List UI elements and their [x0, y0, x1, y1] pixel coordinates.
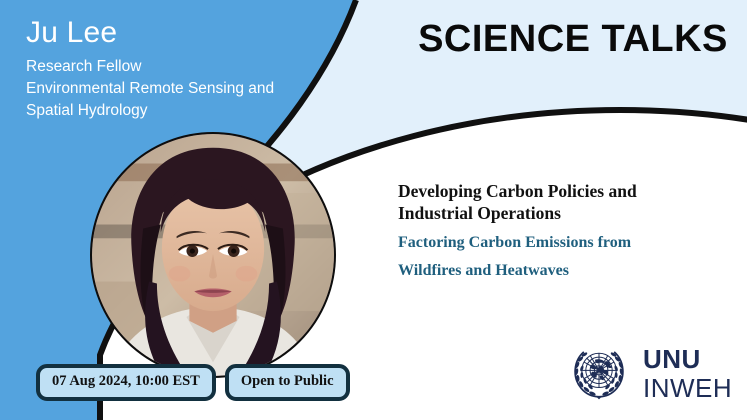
speaker-portrait-image [92, 134, 334, 376]
speaker-role-line-1: Research Fellow [26, 56, 326, 78]
logo-inweh-text: INWEH [643, 375, 732, 401]
audience-badge: Open to Public [225, 364, 350, 401]
science-talks-poster: Ju Lee Research Fellow Environmental Rem… [0, 0, 747, 420]
speaker-role-line-2: Environmental Remote Sensing and [26, 78, 326, 100]
series-title: SCIENCE TALKS [418, 18, 728, 61]
unu-inweh-logo: UNU INWEH [566, 340, 732, 406]
badge-row: 07 Aug 2024, 10:00 EST Open to Public [36, 364, 350, 401]
speaker-name: Ju Lee [26, 16, 326, 50]
speaker-role-line-3: Spatial Hydrology [26, 100, 326, 122]
talk-subtitle-line-1: Factoring Carbon Emissions from [398, 233, 698, 253]
talk-title-line-2: Industrial Operations [398, 202, 698, 224]
logo-unu-text: UNU [643, 346, 732, 372]
un-emblem-icon [566, 340, 632, 406]
logo-wordmark: UNU INWEH [643, 346, 732, 401]
datetime-badge: 07 Aug 2024, 10:00 EST [36, 364, 216, 401]
speaker-info: Ju Lee Research Fellow Environmental Rem… [26, 16, 326, 122]
talk-details: Developing Carbon Policies and Industria… [398, 180, 698, 282]
talk-subtitle-line-2: Wildfires and Heatwaves [398, 261, 698, 281]
avatar [90, 132, 336, 378]
talk-title-line-1: Developing Carbon Policies and [398, 180, 698, 202]
